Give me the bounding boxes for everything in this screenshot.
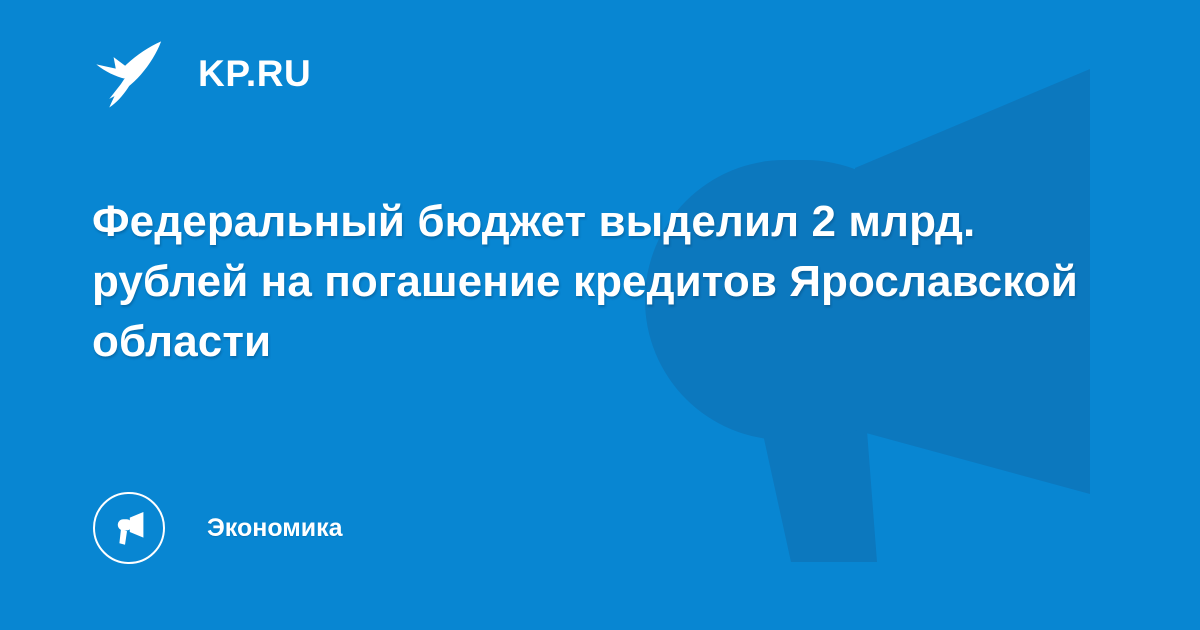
megaphone-icon [93,492,165,564]
social-share-card: KP.RU Федеральный бюджет выделил 2 млрд.… [0,0,1200,630]
site-logo[interactable]: KP.RU [92,34,311,112]
swallow-bird-icon [92,37,164,109]
category-badge[interactable]: Экономика [93,490,343,566]
brand-name: KP.RU [198,55,311,92]
page-title: Федеральный бюджет выделил 2 млрд. рубле… [92,192,1082,372]
category-label: Экономика [207,516,343,541]
